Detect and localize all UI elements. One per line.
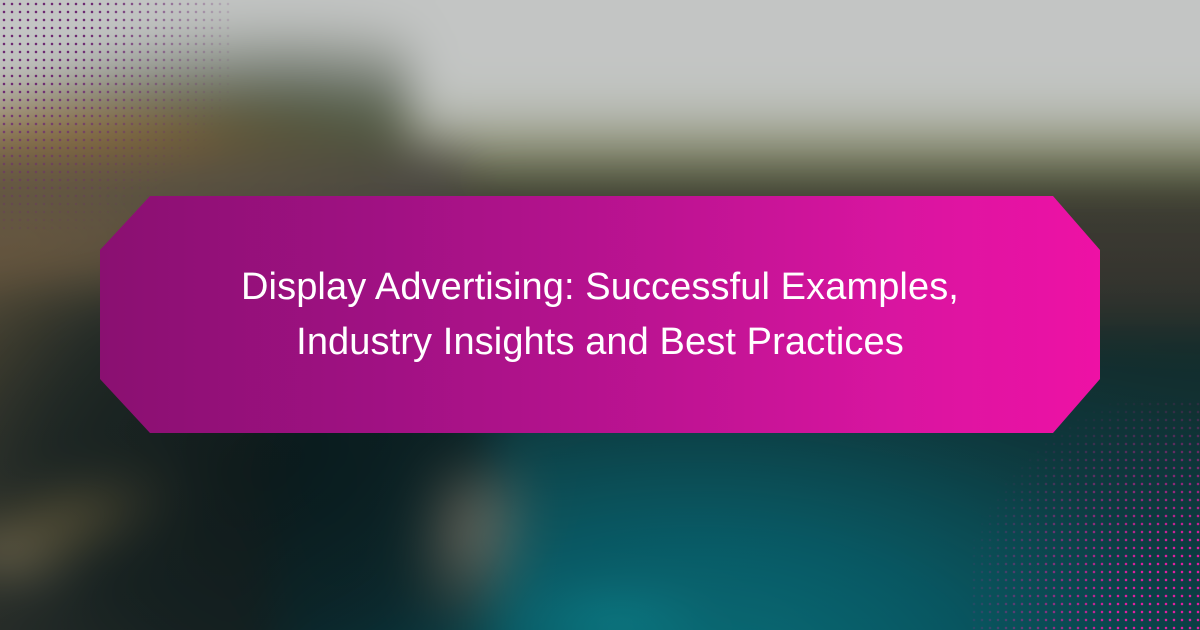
- title-banner: Display Advertising: Successful Examples…: [100, 196, 1100, 433]
- page-title: Display Advertising: Successful Examples…: [181, 260, 1019, 370]
- page-title-line-2: Industry Insights and Best Practices: [241, 315, 959, 370]
- page-title-line-1: Display Advertising: Successful Examples…: [241, 260, 959, 315]
- social-card: Display Advertising: Successful Examples…: [0, 0, 1200, 630]
- halftone-dots-bottom-right-icon: [970, 400, 1200, 630]
- halftone-dots-top-left-icon: [0, 0, 230, 230]
